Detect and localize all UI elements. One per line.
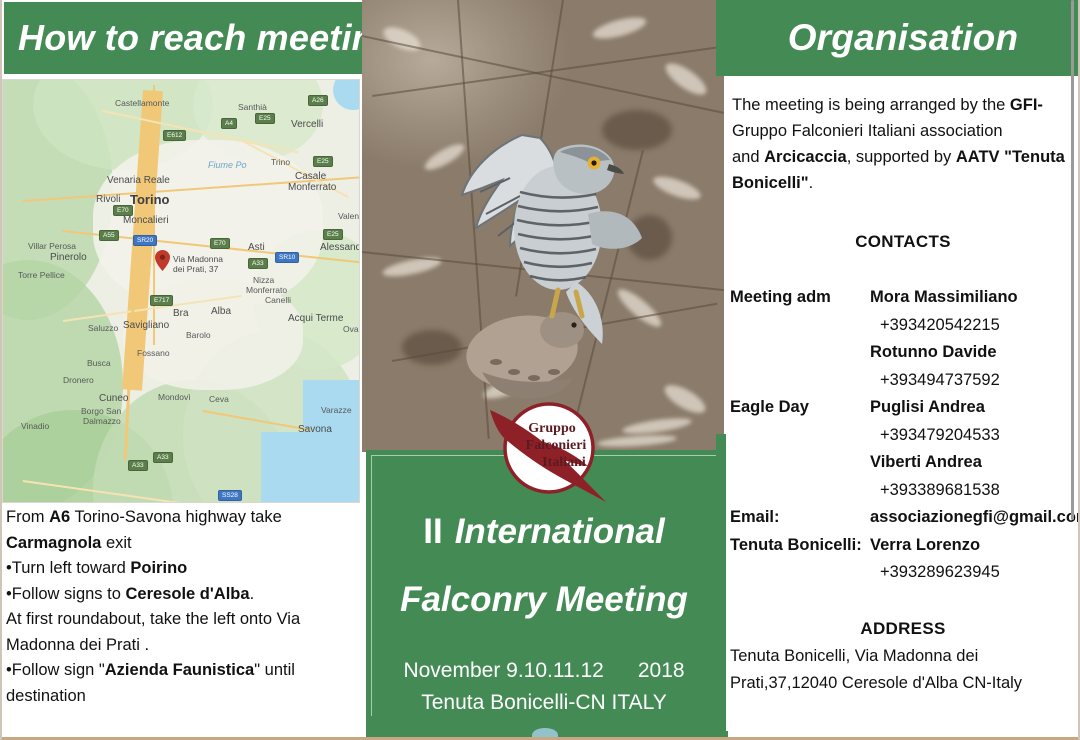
logo-line2: Falconieri (526, 438, 587, 453)
address-text: Tenuta Bonicelli, Via Madonna dei Prati,… (730, 643, 1076, 697)
map-place-label: Santhià (238, 102, 267, 112)
left-border (0, 0, 2, 740)
tenuta-phone: +393289623945 (870, 559, 1000, 587)
contact-phone: +393389681538 (870, 477, 1000, 505)
tenuta-label: Tenuta Bonicelli: (730, 532, 870, 560)
meeting-title-line1: International (455, 512, 665, 551)
map-place-label: Monferrato (246, 285, 287, 295)
map-place-label: Torino (130, 192, 169, 207)
map-place-label: Pinerolo (50, 252, 87, 263)
address-heading: ADDRESS (726, 619, 1080, 639)
meeting-venue: Tenuta Bonicelli-CN ITALY (366, 687, 722, 719)
map-road-shield: E25 (255, 113, 275, 124)
contact-phone: +393494737592 (870, 367, 1000, 395)
map-place-label: Varazze (321, 405, 352, 415)
contact-row-tenuta: Tenuta Bonicelli: Verra Lorenzo (730, 532, 1078, 560)
map-place-label: Venaria Reale (107, 175, 170, 186)
contact-label: Meeting adm (730, 284, 870, 312)
right-banner: Organisation (726, 0, 1080, 76)
map-place-label: Alba (211, 306, 231, 317)
gfi-logo-icon: Gruppo Falconieri Italiani (484, 392, 614, 504)
scrollbar[interactable] (1071, 0, 1074, 520)
map-road-shield: A4 (221, 118, 237, 129)
contact-phone: +393479204533 (870, 422, 1000, 450)
map-place-label: Trino (271, 157, 290, 167)
map-place-label: Asti (248, 242, 265, 253)
map-place-label: Acqui Terme (288, 313, 343, 324)
map-pin-label: Via Madonna dei Prati, 37 (173, 254, 223, 274)
map-place-label: Ovada (343, 324, 360, 334)
contact-label (730, 449, 870, 477)
middle-column: Gruppo Falconieri Italiani IIInternation… (362, 0, 724, 740)
map-place-label: Rivoli (96, 194, 120, 205)
map-place-label: Monferrato (288, 182, 336, 193)
left-banner: How to reach meeting (4, 2, 362, 74)
contact-phone-row: +393494737592 (730, 367, 1078, 395)
contact-row: Viberti Andrea (730, 449, 1078, 477)
contacts-heading: CONTACTS (726, 232, 1080, 252)
map-place-label: Vercelli (291, 119, 323, 130)
map-place-label: Fossano (137, 348, 170, 358)
contact-phone-row: +393389681538 (730, 477, 1078, 505)
map-road-shield: SR10 (275, 252, 299, 263)
map-place-label: Villar Perosa (28, 241, 76, 251)
map-place-label: Valenza (338, 211, 360, 221)
directions-text: From A6 Torino-Savona highway take Carma… (6, 505, 356, 709)
map-place-label: Moncalieri (123, 215, 169, 226)
contact-name: Mora Massimiliano (870, 284, 1018, 312)
map-road-shield: E612 (163, 130, 186, 141)
map-place-label: Cuneo (99, 393, 128, 404)
map-road-shield: E25 (323, 229, 343, 240)
map-place-label: Savigliano (123, 320, 169, 331)
organisation-paragraph: The meeting is being arranged by the GFI… (732, 92, 1076, 196)
map-place-label: Busca (87, 358, 111, 368)
goshawk-bird-icon (362, 0, 724, 452)
contact-label: Eagle Day (730, 394, 870, 422)
map-canvas: Via Madonna dei Prati, 37 (3, 80, 359, 502)
email-label: Email: (730, 504, 870, 532)
map-road-shield: SS28 (218, 490, 242, 501)
contact-row-tenuta-phone: x +393289623945 (730, 559, 1078, 587)
contact-row-email: Email: associazionegfi@gmail.com (730, 504, 1078, 532)
contact-name: Viberti Andrea (870, 449, 982, 477)
meeting-title-line2: Falconry Meeting (366, 566, 722, 634)
contact-row: Meeting admMora Massimiliano (730, 284, 1078, 312)
right-column: Organisation The meeting is being arrang… (726, 0, 1080, 740)
map-place-label: Savona (298, 424, 332, 435)
map-pin-icon (155, 250, 170, 271)
map-road-shield: SR20 (133, 235, 157, 246)
logo-line3: Italiani (542, 455, 586, 470)
tenuta-value: Verra Lorenzo (870, 532, 980, 560)
map-place-label: Casale (295, 171, 326, 182)
meeting-title: IIInternational Falconry Meeting (366, 498, 722, 634)
map-place-label: Fiume Po (208, 160, 247, 170)
contact-row: Eagle DayPuglisi Andrea (730, 394, 1078, 422)
map-place-label: Canelli (265, 295, 291, 305)
contacts-table: Meeting admMora Massimiliano +3934205422… (730, 284, 1078, 587)
map-place-label: Borgo San (81, 406, 121, 416)
map-place-label: Torre Pellice (18, 270, 65, 280)
poster-page: How to reach meeting (0, 0, 1080, 740)
map-place-label: Bra (173, 308, 189, 319)
map-place-label: Alessandria (320, 242, 360, 253)
map-place-label: Dronero (63, 375, 94, 385)
meeting-date-text: November 9.10.11.12 (403, 659, 603, 682)
goshawk-photo (362, 0, 724, 452)
map-road-shield: E25 (313, 156, 333, 167)
contact-phone: +393420542215 (870, 312, 1000, 340)
map-place-label: Castellamonte (115, 98, 169, 108)
email-value[interactable]: associazionegfi@gmail.com (870, 504, 1080, 532)
map-road-shield: E70 (113, 205, 133, 216)
meeting-numeral: II (423, 512, 442, 551)
map-place-label: Barolo (186, 330, 211, 340)
map-place-label: Mondovì (158, 392, 191, 402)
map-place-label: Ceva (209, 394, 229, 404)
contact-name: Rotunno Davide (870, 339, 997, 367)
left-column: How to reach meeting (0, 0, 362, 740)
contact-phone-row: +393479204533 (730, 422, 1078, 450)
logo-line1: Gruppo (528, 421, 575, 436)
map-road-shield: A55 (99, 230, 119, 241)
map-place-label: Nizza (253, 275, 274, 285)
contact-row: Rotunno Davide (730, 339, 1078, 367)
map-road-shield: E717 (150, 295, 173, 306)
map-road-shield: A33 (128, 460, 148, 471)
contact-label (730, 339, 870, 367)
map-road-shield: E70 (210, 238, 230, 249)
map-place-label: Dalmazzo (83, 416, 121, 426)
map-place-label: Saluzzo (88, 323, 118, 333)
meeting-year: 2018 (638, 659, 685, 682)
left-banner-title: How to reach meeting (18, 17, 396, 59)
map-road-shield: A33 (248, 258, 268, 269)
contact-phone-row: +393420542215 (730, 312, 1078, 340)
right-banner-title: Organisation (788, 17, 1019, 59)
map-road-shield: A26 (308, 95, 328, 106)
route-map[interactable]: Via Madonna dei Prati, 37 CastellamonteS… (2, 79, 360, 503)
map-road-shield: A33 (153, 452, 173, 463)
meeting-dates: November 9.10.11.122018 Tenuta Bonicelli… (366, 655, 722, 719)
map-place-label: Vinadio (21, 421, 49, 431)
organisation-body: The meeting is being arranged by the GFI… (726, 76, 1080, 731)
contact-name: Puglisi Andrea (870, 394, 985, 422)
